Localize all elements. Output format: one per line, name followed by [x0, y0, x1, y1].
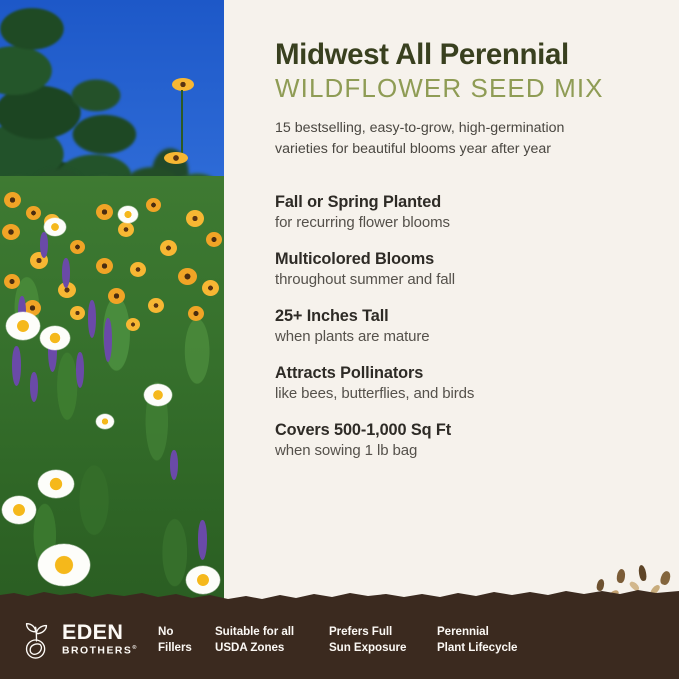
product-info-panel: Midwest All Perennial WILDFLOWER SEED MI… [224, 0, 679, 679]
feature-item: Multicolored Blooms throughout summer an… [275, 250, 649, 288]
bloom-white-daisy [44, 218, 66, 236]
footer-content: EDEN BROTHERS® No Fillers Suitable for a… [0, 600, 679, 679]
bloom-orange [4, 274, 20, 289]
badge-line-2: USDA Zones [215, 641, 284, 654]
bloom-orange [2, 224, 20, 240]
bloom-orange [108, 288, 125, 304]
feature-item: 25+ Inches Tall when plants are mature [275, 307, 649, 345]
badge-line-2: Fillers [158, 641, 192, 654]
tall-flower-stem [181, 90, 183, 162]
feature-heading: 25+ Inches Tall [275, 307, 649, 326]
bloom-purple [76, 352, 84, 388]
badge-line-2: Plant Lifecycle [437, 641, 517, 654]
tagline-line-2: varieties for beautiful blooms year afte… [275, 141, 551, 157]
brand-sub-name: BROTHERS® [62, 646, 138, 657]
brand-sub-text: BROTHERS [62, 645, 132, 656]
bloom-orange [130, 262, 146, 277]
brand-wordmark: EDEN BROTHERS® [62, 622, 138, 656]
badge-usda-zones: Suitable for all USDA Zones [215, 624, 329, 656]
bloom-orange [160, 240, 177, 256]
feature-item: Attracts Pollinators like bees, butterfl… [275, 364, 649, 402]
feature-detail: throughout summer and fall [275, 271, 649, 288]
bloom-orange [26, 206, 41, 220]
bloom-orange [186, 210, 204, 227]
bloom-purple [88, 300, 96, 338]
bloom-orange [118, 222, 134, 237]
brand-logo[interactable]: EDEN BROTHERS® [18, 621, 158, 659]
badge-line-1: No [158, 625, 173, 638]
footer-bar: EDEN BROTHERS® No Fillers Suitable for a… [0, 600, 679, 679]
bloom-orange [202, 280, 219, 296]
bloom-white-daisy [96, 414, 114, 429]
badge-line-1: Perennial [437, 625, 489, 638]
bloom-purple [30, 372, 38, 402]
badge-line-1: Prefers Full [329, 625, 392, 638]
feature-badges: No Fillers Suitable for all USDA Zones P… [158, 624, 557, 656]
page-title: Midwest All Perennial [275, 38, 649, 71]
bloom-purple [104, 318, 112, 362]
feature-item: Fall or Spring Planted for recurring flo… [275, 193, 649, 231]
bloom-purple [62, 258, 70, 288]
sprout-seedling-icon [18, 621, 55, 659]
bloom-orange [70, 240, 85, 254]
feature-item: Covers 500-1,000 Sq Ft when sowing 1 lb … [275, 421, 649, 459]
feature-detail: when plants are mature [275, 328, 649, 345]
bloom-white-daisy [38, 544, 90, 586]
bloom-purple [198, 520, 207, 560]
tagline-line-1: 15 bestselling, easy-to-grow, high-germi… [275, 120, 564, 136]
bloom-white-daisy [6, 312, 40, 340]
bloom-purple [40, 232, 48, 258]
badge-no-fillers: No Fillers [158, 624, 215, 656]
feature-detail: like bees, butterflies, and birds [275, 385, 649, 402]
feature-detail: for recurring flower blooms [275, 214, 649, 231]
badge-line-1: Suitable for all [215, 625, 294, 638]
orange-flower-lower [164, 152, 188, 164]
badge-sun-exposure: Prefers Full Sun Exposure [329, 624, 437, 656]
bloom-orange [96, 204, 113, 220]
tall-orange-flower [172, 78, 194, 91]
bloom-orange [206, 232, 222, 247]
product-tagline: 15 bestselling, easy-to-grow, high-germi… [275, 118, 649, 161]
badge-plant-lifecycle: Perennial Plant Lifecycle [437, 624, 557, 656]
bloom-white-daisy [144, 384, 172, 406]
bloom-orange [96, 258, 113, 274]
bloom-orange [188, 306, 204, 321]
product-marketing-card: Midwest All Perennial WILDFLOWER SEED MI… [0, 0, 679, 679]
bloom-orange [146, 198, 161, 212]
badge-line-2: Sun Exposure [329, 641, 406, 654]
feature-heading: Attracts Pollinators [275, 364, 649, 383]
brand-name: EDEN [62, 622, 138, 644]
bloom-orange [148, 298, 164, 313]
bloom-purple [170, 450, 178, 480]
feature-detail: when sowing 1 lb bag [275, 442, 649, 459]
bloom-orange [126, 318, 140, 331]
feature-heading: Multicolored Blooms [275, 250, 649, 269]
bloom-white-daisy [2, 496, 36, 524]
feature-list: Fall or Spring Planted for recurring flo… [275, 193, 649, 459]
bloom-white-daisy [38, 470, 74, 498]
product-subtitle: WILDFLOWER SEED MIX [275, 73, 649, 104]
feature-heading: Covers 500-1,000 Sq Ft [275, 421, 649, 440]
bloom-white-daisy [118, 206, 138, 223]
wildflower-meadow-photo [0, 0, 224, 614]
bloom-orange [4, 192, 21, 208]
bloom-orange [70, 306, 85, 320]
bloom-white-daisy [40, 326, 70, 350]
feature-heading: Fall or Spring Planted [275, 193, 649, 212]
trademark-symbol: ® [132, 645, 138, 651]
bloom-orange [178, 268, 197, 285]
bloom-purple [12, 346, 21, 386]
